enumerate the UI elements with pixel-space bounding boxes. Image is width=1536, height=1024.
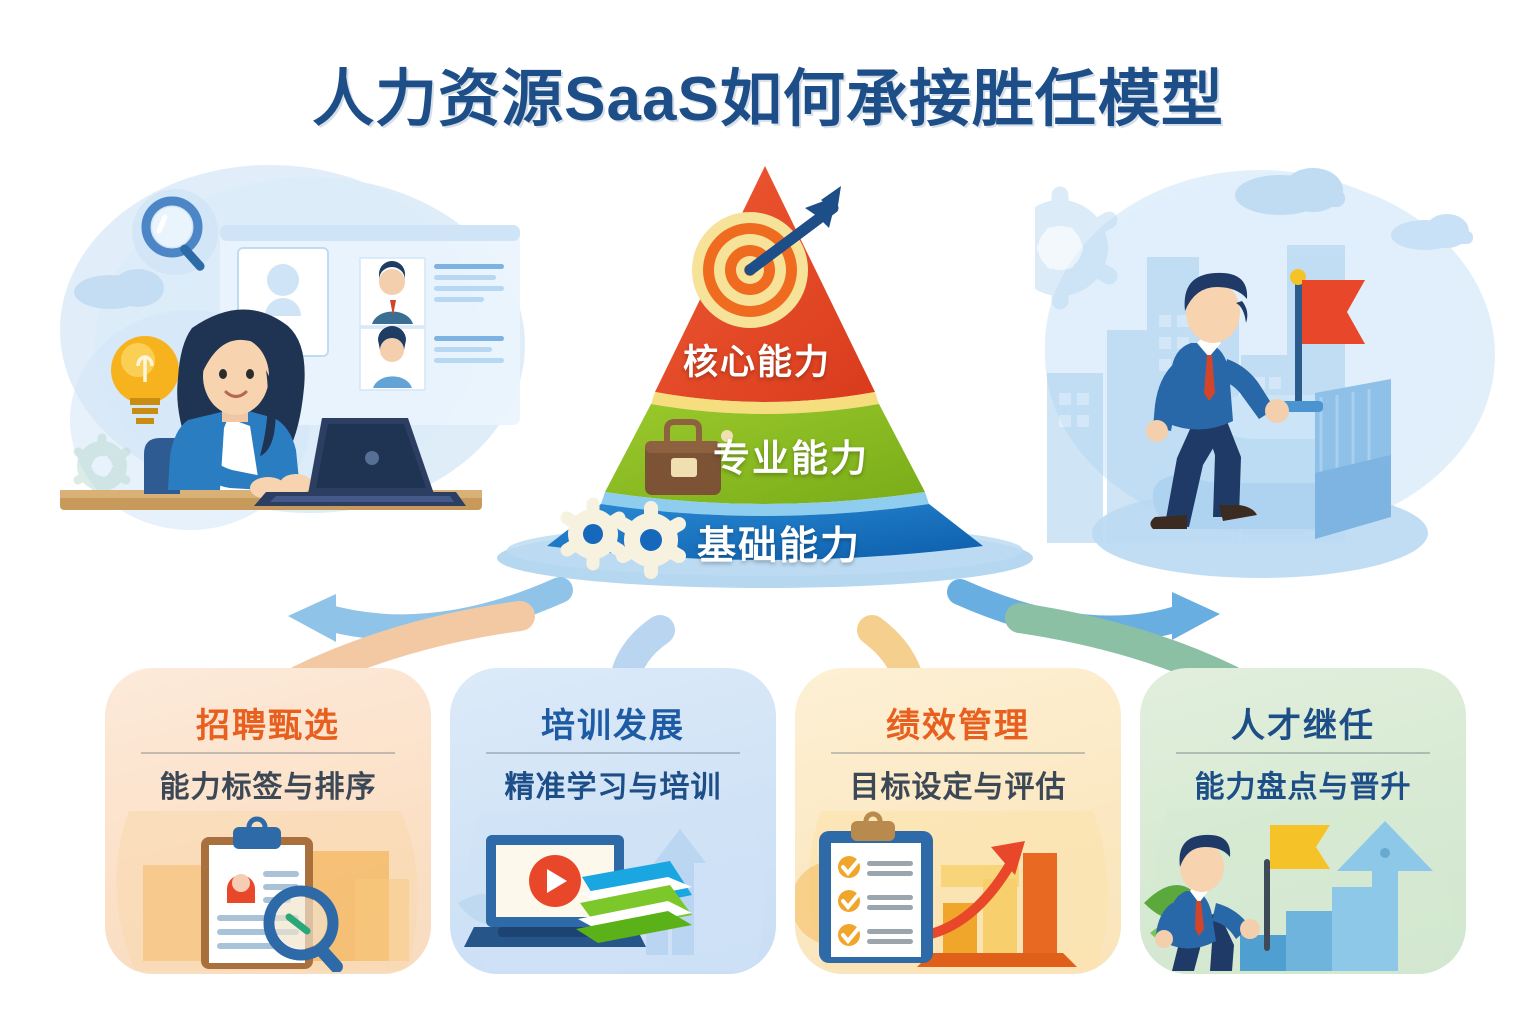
card-subtitle: 目标设定与评估 — [795, 762, 1121, 806]
card-subtitle: 精准学习与培训 — [450, 762, 776, 806]
infographic-canvas: 人力资源SaaS如何承接胜任模型 — [0, 0, 1536, 1024]
card-title: 绩效管理 — [795, 698, 1121, 747]
card-divider — [1176, 752, 1430, 754]
card-recruitment[interactable]: 招聘甄选 能力标签与排序 — [105, 668, 431, 974]
page-title: 人力资源SaaS如何承接胜任模型 — [0, 48, 1536, 138]
card-subtitle: 能力标签与排序 — [105, 762, 431, 806]
hr-person — [168, 309, 312, 499]
card-title: 培训发展 — [450, 698, 776, 747]
person-flag-stairs-icon — [1140, 807, 1466, 972]
magnifier-icon — [132, 189, 218, 275]
cloud-icon — [1235, 168, 1345, 215]
card-subtitle: 能力盘点与晋升 — [1140, 762, 1466, 806]
card-performance[interactable]: 绩效管理 目标设定与评估 — [795, 668, 1121, 974]
clipboard-resume-magnifier-icon — [105, 807, 431, 972]
card-divider — [486, 752, 740, 754]
pyramid-tier-label-middle: 专业能力 — [713, 428, 869, 482]
card-training[interactable]: 培训发展 精准学习与培训 — [450, 668, 776, 974]
card-succession[interactable]: 人才继任 能力盘点与晋升 — [1140, 668, 1466, 974]
laptop-video-books-icon — [450, 807, 776, 972]
card-divider — [141, 752, 395, 754]
checklist-growth-chart-icon — [795, 807, 1121, 972]
card-divider — [831, 752, 1085, 754]
card-title: 招聘甄选 — [105, 698, 431, 747]
card-title: 人才继任 — [1140, 698, 1466, 747]
pyramid-tier-label-top: 核心能力 — [683, 334, 831, 385]
